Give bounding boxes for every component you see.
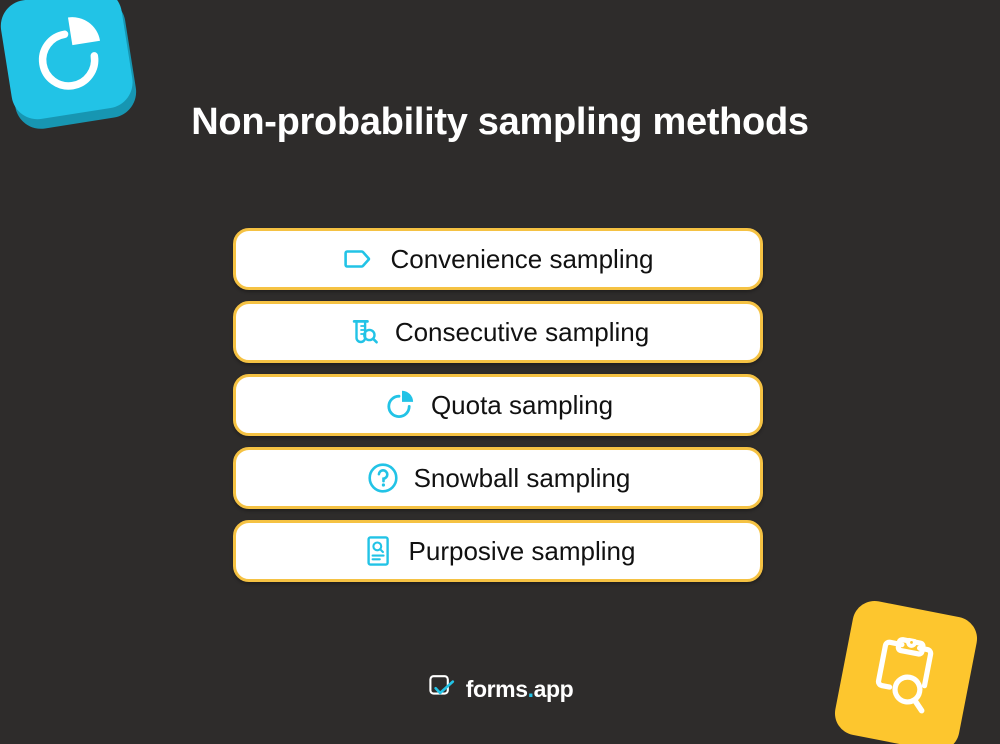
method-card-quota[interactable]: Quota sampling — [233, 374, 763, 436]
footer-name: forms — [466, 676, 528, 702]
method-label: Convenience sampling — [390, 246, 653, 272]
test-tube-search-icon — [347, 315, 381, 349]
forms-app-check-icon — [427, 672, 457, 707]
method-label: Quota sampling — [431, 392, 613, 418]
method-label: Consecutive sampling — [395, 319, 649, 345]
question-circle-icon — [366, 461, 400, 495]
footer-suffix: app — [534, 676, 574, 702]
pie-chart-icon — [383, 388, 417, 422]
footer-wordmark: forms.app — [466, 678, 574, 701]
document-search-icon — [361, 534, 395, 568]
method-card-purposive[interactable]: Purposive sampling — [233, 520, 763, 582]
method-card-snowball[interactable]: Snowball sampling — [233, 447, 763, 509]
method-card-consecutive[interactable]: Consecutive sampling — [233, 301, 763, 363]
pie-chart-icon — [22, 7, 113, 105]
method-label: Purposive sampling — [409, 538, 636, 564]
method-card-convenience[interactable]: Convenience sampling — [233, 228, 763, 290]
method-label: Snowball sampling — [414, 465, 631, 491]
methods-list: Convenience sampling Consecutive samplin… — [233, 228, 763, 593]
infographic-canvas: Non-probability sampling methods Conveni… — [0, 0, 1000, 744]
clipboard-search-icon — [862, 632, 950, 726]
accent-decoration-tile — [831, 597, 981, 744]
tag-icon — [342, 242, 376, 276]
page-title: Non-probability sampling methods — [0, 101, 1000, 144]
